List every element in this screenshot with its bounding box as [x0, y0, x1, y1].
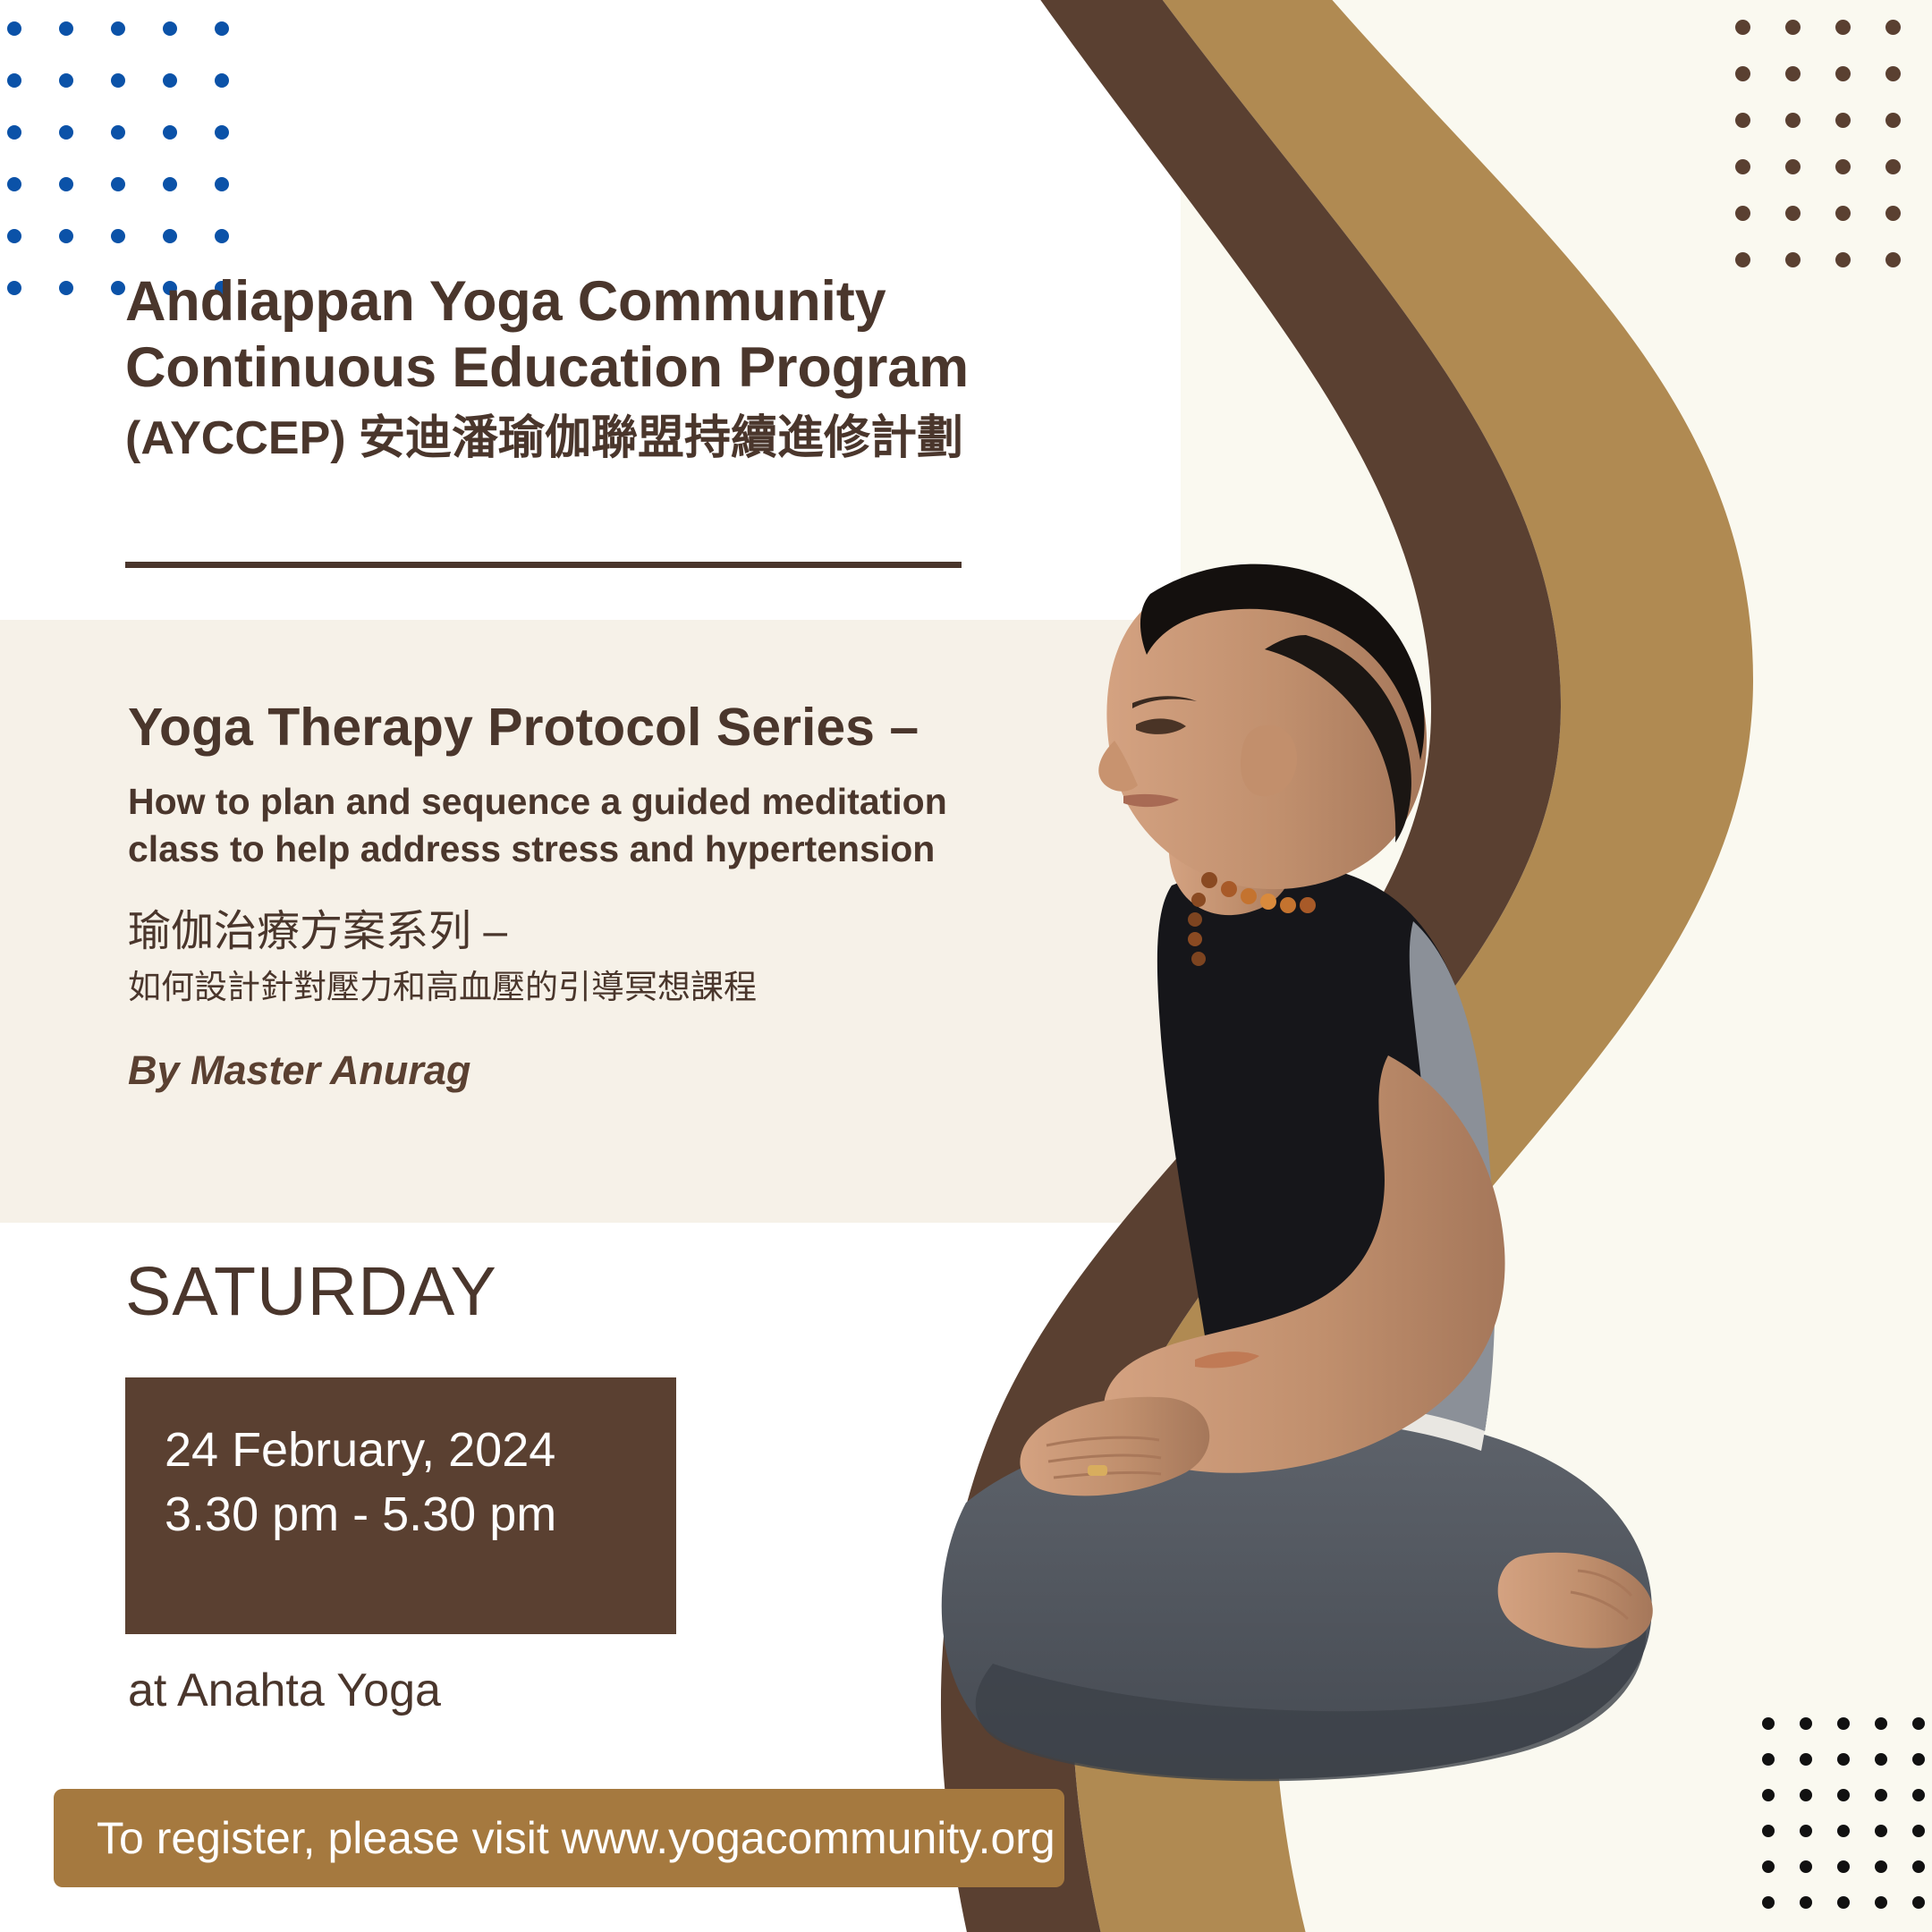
header-line-3-chinese: (AYCCEP) 安迪潘瑜伽聯盟持續進修計劃: [125, 407, 1127, 470]
poster-header: Andiappan Yoga Community Continuous Educ…: [125, 268, 1127, 470]
venue-label: at Anahta Yoga: [128, 1664, 441, 1717]
poster-canvas: Andiappan Yoga Community Continuous Educ…: [0, 0, 1932, 1932]
program-details: Yoga Therapy Protocol Series – How to pl…: [128, 698, 1157, 1094]
event-time: 3.30 pm - 5.30 pm: [165, 1483, 676, 1547]
series-subtitle-line-1: How to plan and sequence a guided medita…: [128, 778, 1157, 825]
series-title-chinese: 瑜伽治療方案系列 –: [128, 906, 1157, 958]
date-time-box: 24 February, 2024 3.30 pm - 5.30 pm: [125, 1377, 676, 1634]
header-line-1: Andiappan Yoga Community: [125, 268, 1127, 335]
registration-bar[interactable]: To register, please visit www.yogacommun…: [54, 1789, 1064, 1887]
weekday-label: SATURDAY: [125, 1252, 497, 1332]
registration-text: To register, please visit www.yogacommun…: [97, 1812, 1055, 1864]
header-divider-rule: [125, 562, 962, 568]
wedding-ring: [1088, 1465, 1107, 1476]
series-subtitle-line-2: class to help address stress and hyperte…: [128, 826, 1157, 872]
series-title: Yoga Therapy Protocol Series –: [128, 698, 1157, 757]
event-date: 24 February, 2024: [165, 1419, 676, 1483]
header-line-2: Continuous Education Program: [125, 335, 1127, 401]
series-subtitle-chinese: 如何設計針對壓力和高血壓的引導冥想課程: [128, 967, 1157, 1008]
instructor-byline: By Master Anurag: [128, 1047, 1157, 1094]
